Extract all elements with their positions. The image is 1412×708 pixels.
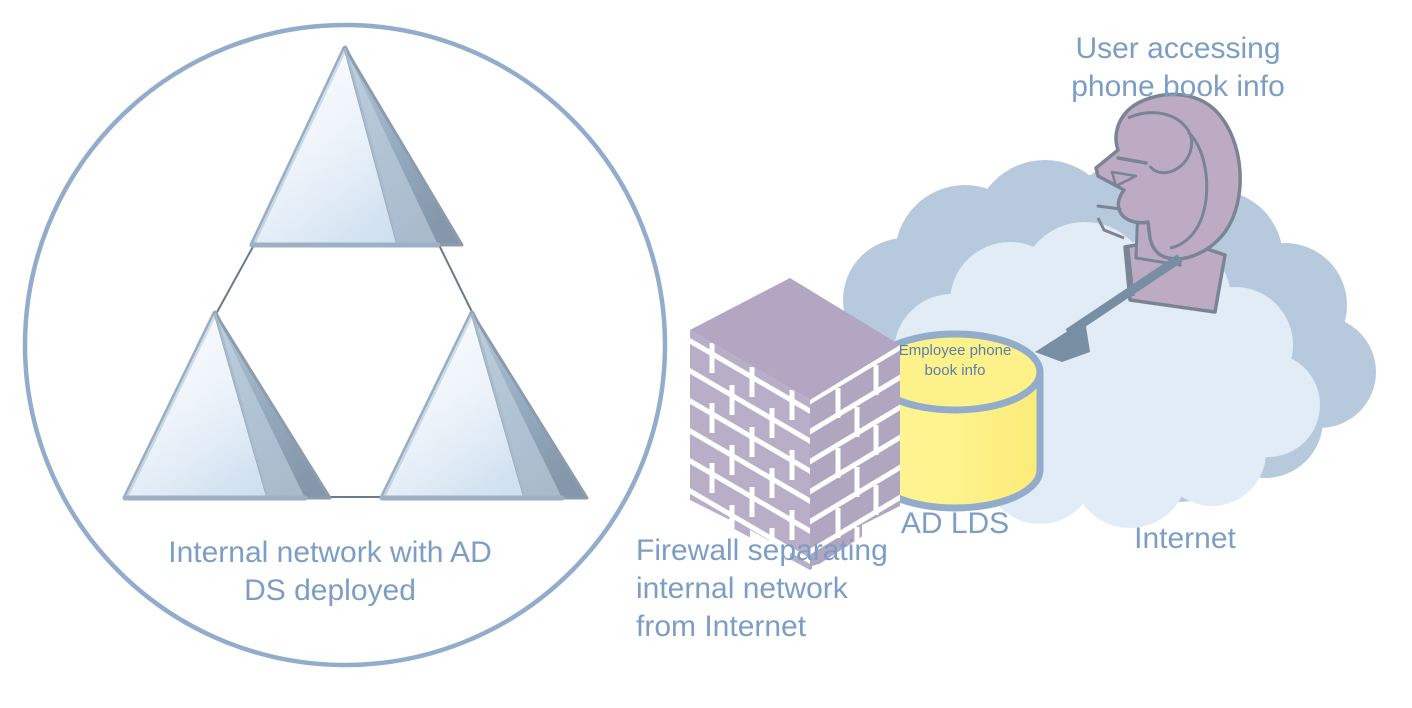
firewall-label-line2: internal network	[636, 572, 849, 605]
internet-label: Internet	[1134, 522, 1236, 555]
internal-network-label-line1: Internal network with AD	[168, 536, 491, 569]
internal-network-label-line2: DS deployed	[244, 574, 416, 607]
database-label-line2: book info	[925, 362, 986, 379]
pyramid-top	[252, 48, 462, 245]
diagram-canvas: Employee phone book info	[0, 0, 1412, 708]
pyramid-bottom-right	[382, 313, 587, 498]
user-label-line2: phone book info	[1071, 70, 1285, 103]
network-diagram: Employee phone book info	[0, 0, 1412, 708]
database-label-line1: Employee phone	[899, 342, 1012, 359]
label-internal-network: Internal network with AD DS deployed	[168, 536, 491, 607]
firewall-label-line1: Firewall separating	[636, 534, 888, 567]
label-user: User accessing phone book info	[1071, 32, 1285, 103]
firewall-label-line3: from Internet	[636, 610, 807, 643]
label-firewall: Firewall separating internal network fro…	[636, 534, 888, 643]
user-label-line1: User accessing	[1075, 32, 1280, 65]
pyramid-bottom-left	[125, 313, 330, 498]
ad-lds-label: AD LDS	[901, 507, 1009, 540]
